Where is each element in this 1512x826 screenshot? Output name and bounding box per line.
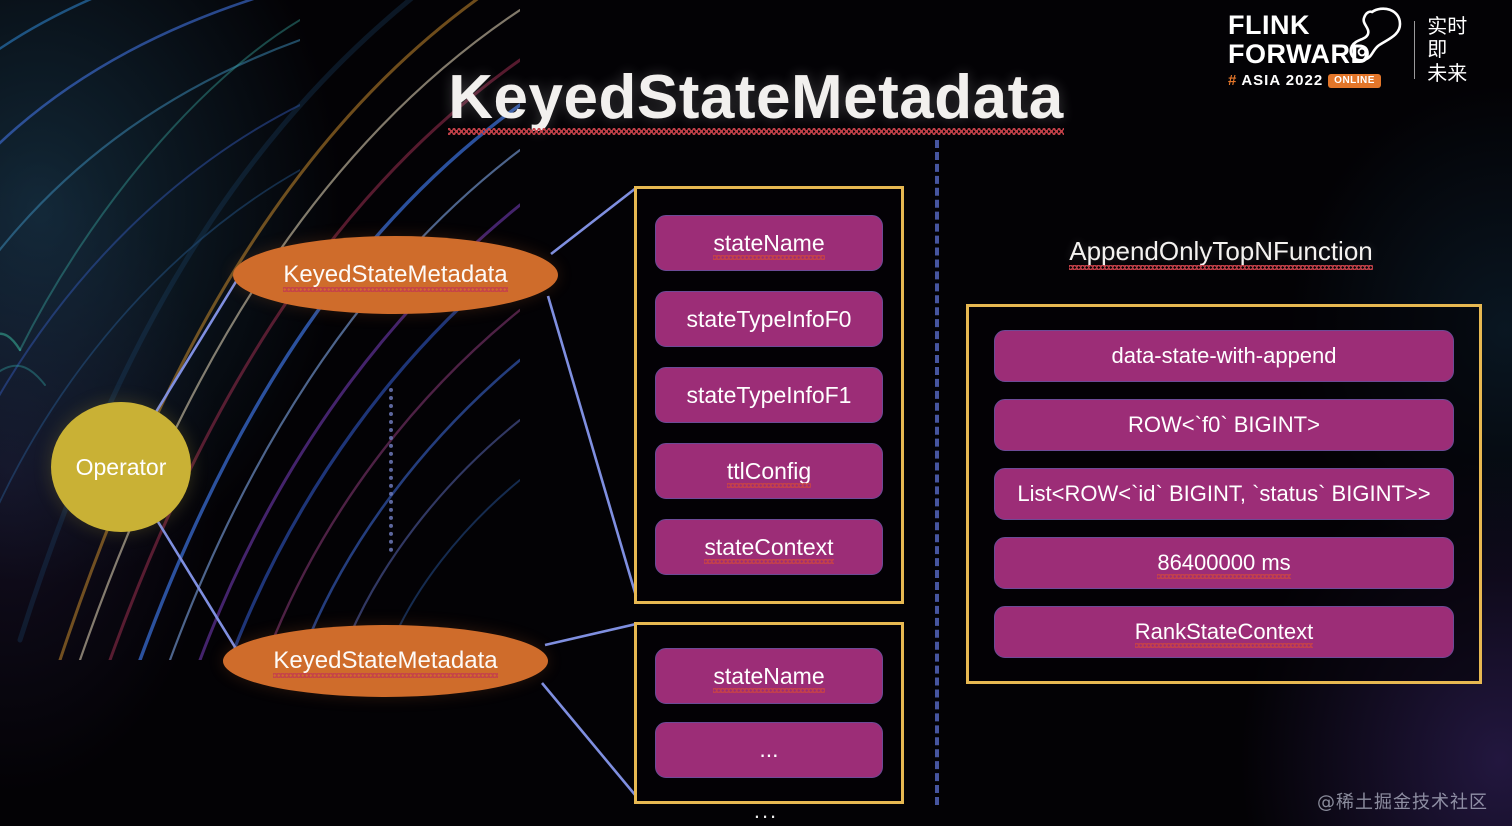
link-operator-to-ellipse-bottom (152, 512, 238, 652)
value-chip-label: data-state-with-append (1111, 343, 1336, 369)
field-chip-label: stateName (713, 663, 824, 690)
link-operator-to-ellipse-top (148, 262, 248, 425)
value-chip[interactable]: 86400000 ms (994, 537, 1454, 589)
field-chip-label: ttlConfig (727, 458, 811, 485)
field-chip-label: stateTypeInfoF0 (687, 306, 852, 333)
field-chip[interactable]: stateTypeInfoF0 (655, 291, 883, 347)
node-operator-label: Operator (76, 454, 167, 481)
field-chip[interactable]: stateTypeInfoF1 (655, 367, 883, 423)
value-chip[interactable]: List<ROW<`id` BIGINT, `status` BIGINT>> (994, 468, 1454, 520)
slide-canvas: FLINK FORWARD # ASIA 2022 ONLINE 实时即 未来 … (0, 0, 1512, 826)
field-group-top: stateName stateTypeInfoF0 stateTypeInfoF… (634, 186, 904, 604)
field-chip[interactable]: stateName (655, 648, 883, 704)
right-panel-heading-text: AppendOnlyTopNFunction (1069, 236, 1373, 267)
field-chip-label: stateContext (704, 534, 833, 561)
watermark: @稀土掘金技术社区 (1317, 788, 1488, 814)
right-panel-group: data-state-with-append ROW<`f0` BIGINT> … (966, 304, 1482, 684)
link-ellipse-bottom-to-box-bottom (542, 683, 636, 796)
value-chip-label: List<ROW<`id` BIGINT, `status` BIGINT>> (1017, 481, 1430, 507)
node-keyed-state-metadata-top[interactable]: KeyedStateMetadata (233, 236, 558, 314)
field-chip-label: stateName (713, 230, 824, 257)
field-group-bottom: stateName ... (634, 622, 904, 804)
field-chip[interactable]: ... (655, 722, 883, 778)
field-list-top: stateName stateTypeInfoF0 stateTypeInfoF… (637, 189, 901, 601)
link-ellipse-top-to-box-bottom (548, 296, 636, 596)
value-chip-label: ROW<`f0` BIGINT> (1128, 412, 1320, 438)
right-panel-heading: AppendOnlyTopNFunction (966, 236, 1476, 267)
node-operator[interactable]: Operator (51, 402, 191, 532)
link-ellipse-top-to-box-top (551, 188, 636, 254)
field-chip[interactable]: stateName (655, 215, 883, 271)
node-keyed-state-metadata-bottom[interactable]: KeyedStateMetadata (223, 625, 548, 697)
more-groups-ellipsis: ... (634, 798, 898, 824)
value-chip[interactable]: RankStateContext (994, 606, 1454, 658)
node-keyed-state-metadata-top-label: KeyedStateMetadata (283, 261, 507, 289)
field-chip[interactable]: ttlConfig (655, 443, 883, 499)
value-chip[interactable]: data-state-with-append (994, 330, 1454, 382)
value-chip-label: 86400000 ms (1157, 550, 1290, 576)
value-chip[interactable]: ROW<`f0` BIGINT> (994, 399, 1454, 451)
field-chip[interactable]: stateContext (655, 519, 883, 575)
value-chip-label: RankStateContext (1135, 619, 1314, 645)
link-ellipse-bottom-to-box-top (545, 624, 636, 645)
field-list-bottom: stateName ... (637, 625, 901, 801)
field-chip-label: stateTypeInfoF1 (687, 382, 852, 409)
right-panel-value-list: data-state-with-append ROW<`f0` BIGINT> … (969, 307, 1479, 681)
node-keyed-state-metadata-bottom-label: KeyedStateMetadata (273, 647, 497, 675)
field-chip-label: ... (759, 736, 778, 763)
